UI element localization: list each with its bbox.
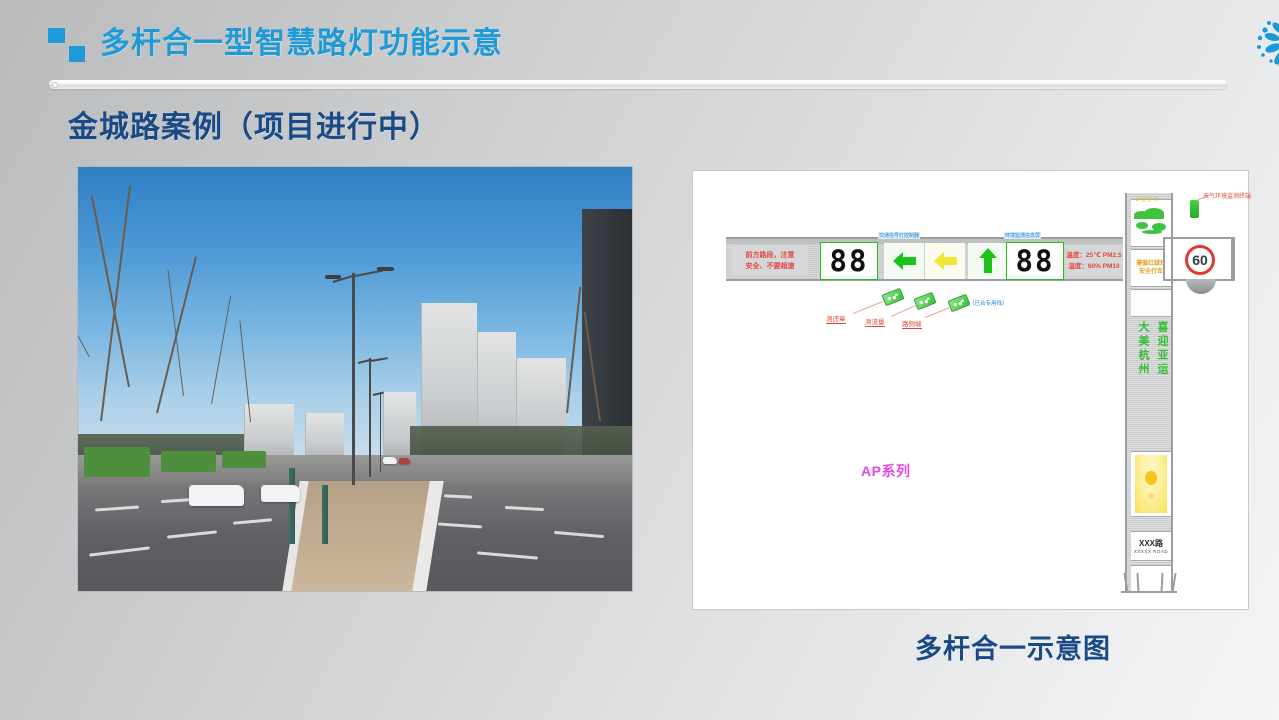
lamp-pole (369, 358, 371, 477)
road-photo (77, 166, 633, 592)
countdown-digits: 88 (830, 247, 869, 276)
car (383, 457, 397, 464)
street-name-sign: XXX路 XXXXX ROAD (1131, 531, 1171, 561)
leader-line (891, 305, 917, 317)
lamp-pole (352, 273, 355, 485)
car (261, 485, 300, 502)
sapling-trunk (289, 468, 295, 544)
truck (222, 451, 266, 468)
dome-camera-icon (1186, 279, 1216, 294)
countdown-display-right: 88 (1006, 242, 1064, 280)
car (189, 485, 244, 506)
speed-limit-sign-box: 60 (1171, 237, 1233, 281)
section-subtitle: 金城路案例（项目进行中） (68, 102, 440, 146)
truck (84, 447, 150, 477)
vms-line-1: 前方路段，注意 (746, 250, 795, 261)
env-line-1: 温度：25℃ PM2.5 (1066, 250, 1121, 261)
slogan-column-1: 大美杭州 (1136, 321, 1149, 425)
pole-banner-slogan: 大美杭州 喜迎亚运 (1133, 321, 1171, 425)
weather-sensor-icon (1190, 200, 1199, 218)
camera-label-violation: 测违章 (826, 313, 846, 324)
leader-line (853, 301, 883, 313)
sapling-trunk (322, 485, 328, 544)
camera-icon-violation (881, 288, 904, 307)
divider-dot (52, 82, 58, 88)
camera-label-roadside: 路侧端 (902, 318, 922, 329)
pole-panel-blank (1131, 289, 1171, 317)
water-droplet-flower-logo-icon (1245, 10, 1279, 70)
slide-header: 多杆合一型智慧路灯功能示意 SWSSY 冠南能源 (0, 0, 1279, 76)
lamp-head (377, 267, 394, 271)
street-lamp-light-panel-icon (1135, 455, 1167, 513)
pole-schematic-diagram: 前方路段，注意 安全、不要超速 88 88 温度：25℃ PM2.5 湿度：60… (692, 170, 1249, 610)
diagram-caption: 多杆合一示意图 (915, 627, 1111, 666)
vms-line-2: 安全、不要超速 (746, 261, 795, 272)
signal-arrow-left-green (884, 243, 924, 279)
street-name-cn: XXX路 (1139, 538, 1163, 549)
env-line-2: 湿度：60% PM10 (1068, 261, 1119, 272)
pole-foundation (1121, 571, 1177, 593)
camera-icon-flow (913, 292, 936, 311)
beam-tag-env-screen: 环境监测信息屏 (1004, 232, 1041, 239)
street-name-en: XXXXX ROAD (1134, 549, 1168, 554)
ap-series-label: AP系列 (861, 461, 910, 481)
speed-limit-sign: 60 (1185, 245, 1215, 275)
weather-sensor-label: 天气环境监测终端 (1203, 191, 1251, 200)
lamp-head (325, 275, 342, 279)
vms-message-panel: 前方路段，注意 安全、不要超速 (732, 245, 808, 276)
green-landscape-panel-icon (1132, 205, 1170, 237)
beam-tag-signal-controller: 交通信号灯控制器 (878, 232, 920, 239)
blue-squares-bullet-icon (48, 28, 86, 62)
safety-line-2: 安全行车 (1139, 268, 1163, 276)
leader-line (925, 307, 949, 317)
pole-top-yellow-text: 公益宣传 (1135, 196, 1159, 203)
countdown-display-left: 88 (820, 242, 878, 280)
car (399, 458, 410, 464)
camera-label-flow: 测流量 (865, 316, 885, 327)
environment-display-panel: 温度：25℃ PM2.5 湿度：60% PM10 (1066, 246, 1122, 275)
signal-arrow-up-green (968, 243, 1008, 279)
slogan-column-2: 喜迎亚运 (1155, 321, 1168, 425)
page-title: 多杆合一型智慧路灯功能示意 (100, 18, 503, 62)
signal-arrow-left-yellow (925, 243, 965, 279)
truck (161, 451, 216, 472)
camera-note: （已合专用线） (969, 299, 1008, 307)
gantry-beam: 前方路段，注意 安全、不要超速 88 88 温度：25℃ PM2.5 湿度：60… (726, 237, 1123, 281)
header-divider (49, 80, 1227, 89)
lamp-pole (380, 392, 382, 473)
safety-line-1: 遵循红绿灯 (1136, 260, 1166, 268)
countdown-digits: 88 (1016, 247, 1055, 276)
camera-icon-roadside (947, 294, 970, 313)
